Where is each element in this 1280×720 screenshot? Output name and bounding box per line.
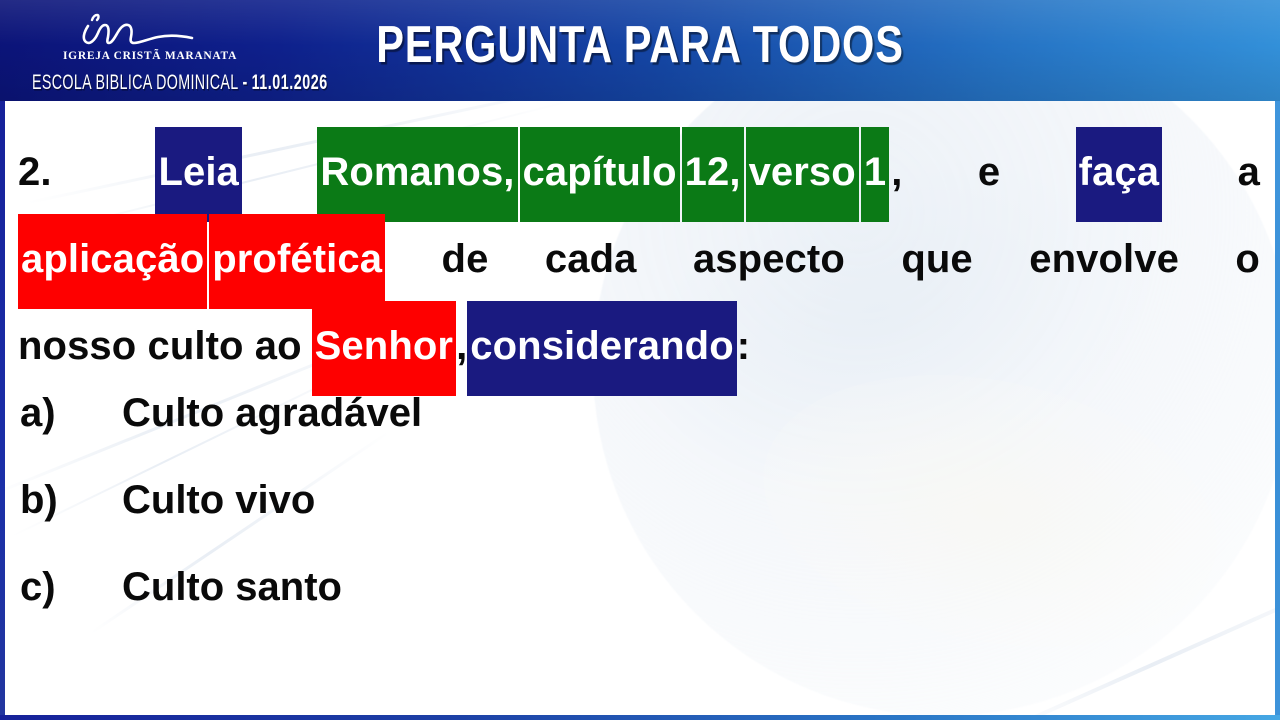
highlight-profetica: profética <box>209 214 385 309</box>
colon-after-considerando: : <box>737 303 750 390</box>
question-line-2: aplicação profética de cada aspecto que … <box>18 214 1260 301</box>
frame-border-left <box>0 101 5 720</box>
option-b-text: Culto vivo <box>122 478 315 523</box>
question-number: 2. <box>18 129 80 216</box>
word-e: e <box>978 129 1000 216</box>
question-line-3: nosso culto aoSenhor,considerando: <box>18 301 1260 388</box>
highlight-romanos: Romanos, <box>317 127 517 222</box>
option-a[interactable]: a) Culto agradável <box>20 391 920 478</box>
highlight-capitulo: capítulo <box>520 127 680 222</box>
option-b[interactable]: b) Culto vivo <box>20 478 920 565</box>
highlight-faca: faça <box>1076 127 1162 222</box>
frame-border-bottom <box>0 715 1280 720</box>
background-swoosh <box>997 561 1280 720</box>
highlight-1: 1 <box>861 127 889 222</box>
highlight-verso: verso <box>746 127 859 222</box>
word-cada: cada <box>545 216 637 303</box>
option-c-text: Culto santo <box>122 565 342 610</box>
option-a-letter: a) <box>20 391 122 436</box>
word-a: a <box>1238 129 1260 216</box>
highlight-leia: Leia <box>155 127 241 222</box>
word-que: que <box>901 216 972 303</box>
option-c-letter: c) <box>20 565 122 610</box>
slide-header: IGREJA CRISTÃ MARANATA ESCOLA BIBLICA DO… <box>0 0 1280 101</box>
slide: IGREJA CRISTÃ MARANATA ESCOLA BIBLICA DO… <box>0 0 1280 720</box>
comma-after-senhor: , <box>456 303 467 390</box>
phrase-nosso-culto-ao: nosso culto ao <box>18 303 302 390</box>
frame-border-right <box>1275 101 1280 720</box>
comma-after-reference: , <box>891 129 902 216</box>
highlight-aplicacao-profetica-group: aplicação profética <box>18 214 385 309</box>
highlight-12: 12, <box>682 127 744 222</box>
word-envolve: envolve <box>1029 216 1179 303</box>
highlight-reference-group: Romanos, capítulo 12, verso 1, <box>317 127 902 222</box>
highlight-considerando: considerando <box>467 301 736 396</box>
word-aspecto: aspecto <box>693 216 845 303</box>
slide-body: 2. Leia Romanos, capítulo 12, verso 1, e… <box>0 101 1280 720</box>
answer-options: a) Culto agradável b) Culto vivo c) Cult… <box>20 391 920 652</box>
question-text: 2. Leia Romanos, capítulo 12, verso 1, e… <box>18 127 1260 388</box>
page-title: PERGUNTA PARA TODOS <box>128 14 1152 76</box>
highlight-senhor: Senhor <box>312 301 456 396</box>
highlight-aplicacao: aplicação <box>18 214 207 309</box>
option-c[interactable]: c) Culto santo <box>20 565 920 652</box>
option-a-text: Culto agradável <box>122 391 422 436</box>
question-line-1: 2. Leia Romanos, capítulo 12, verso 1, e… <box>18 127 1260 214</box>
word-de: de <box>442 216 489 303</box>
word-o: o <box>1235 216 1260 303</box>
option-b-letter: b) <box>20 478 122 523</box>
